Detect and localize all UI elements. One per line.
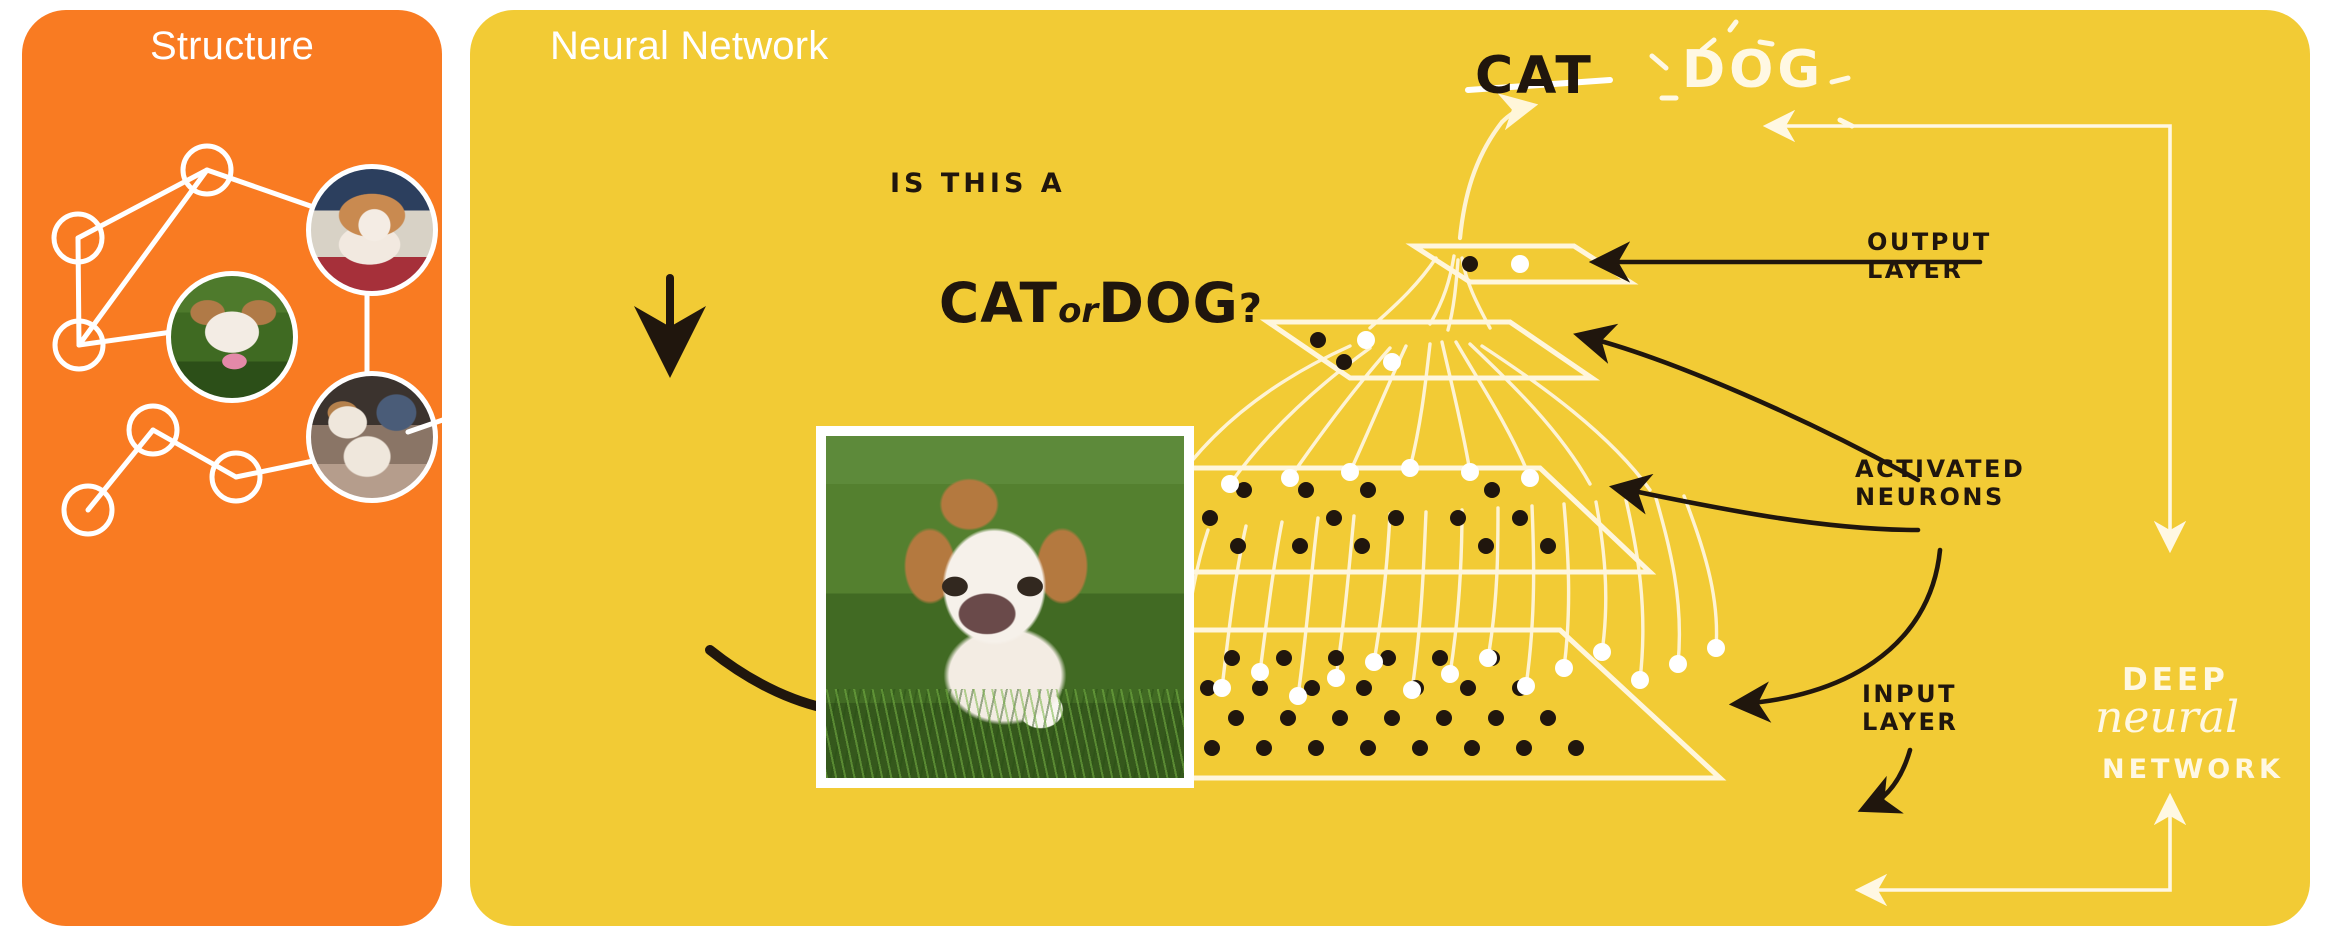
graph-edge <box>78 238 79 345</box>
output-layer-label: OUTPUT LAYER <box>1867 228 1992 285</box>
structure-panel: Structure <box>22 10 442 926</box>
question-line-1: IS THIS A <box>890 168 1066 200</box>
bulldog-puppy-sitting-image <box>311 376 433 498</box>
hidden-layer-1-activated-neurons <box>1161 459 1539 499</box>
activated-neurons-label: ACTIVATED NEURONS <box>1855 455 2025 512</box>
deep-network-bracket-bottom <box>1862 800 2170 890</box>
input-layer-hook-arrow <box>1866 750 1910 808</box>
question-cat-word: CAT <box>939 271 1058 335</box>
graph-edge <box>88 430 153 510</box>
output-layer-activated-neuron <box>1511 255 1529 273</box>
callout-network-word: NETWORK <box>2102 754 2284 786</box>
verdict-cat-rejected: CAT <box>1475 46 1594 107</box>
question-mark: ? <box>1239 286 1263 332</box>
input-image-frame[interactable] <box>816 426 1194 788</box>
bulldog-puppy-on-grass-photo <box>826 436 1184 778</box>
graph-photo-node-bulldog-puppy-sitting[interactable] <box>306 371 438 503</box>
graph-edge <box>236 460 318 477</box>
graph-edge <box>79 332 172 345</box>
callout-neural-word: neural <box>2095 692 2239 744</box>
grass-texture <box>826 689 1184 778</box>
graph-edge <box>153 430 236 477</box>
graph-photo-node-bulldog-show-dog[interactable] <box>306 164 438 296</box>
verdict-dog-selected: DOG <box>1682 40 1824 101</box>
bulldog-tongue-out-image <box>171 276 293 398</box>
illustration-canvas: Structure <box>0 0 2330 936</box>
question-joiner: or <box>1058 291 1098 331</box>
neural-network-panel: Neural Network <box>470 10 2310 926</box>
graph-photo-node-bulldog-tongue-out[interactable] <box>166 271 298 403</box>
question-line-2: CATorDOG? <box>818 206 1263 401</box>
network-diagram <box>470 10 2310 926</box>
bulldog-show-dog-image <box>311 169 433 291</box>
output-layer-inactive-neuron <box>1462 256 1478 272</box>
question-dog-word: DOG <box>1098 271 1239 335</box>
input-layer-label: INPUT LAYER <box>1862 680 1958 737</box>
